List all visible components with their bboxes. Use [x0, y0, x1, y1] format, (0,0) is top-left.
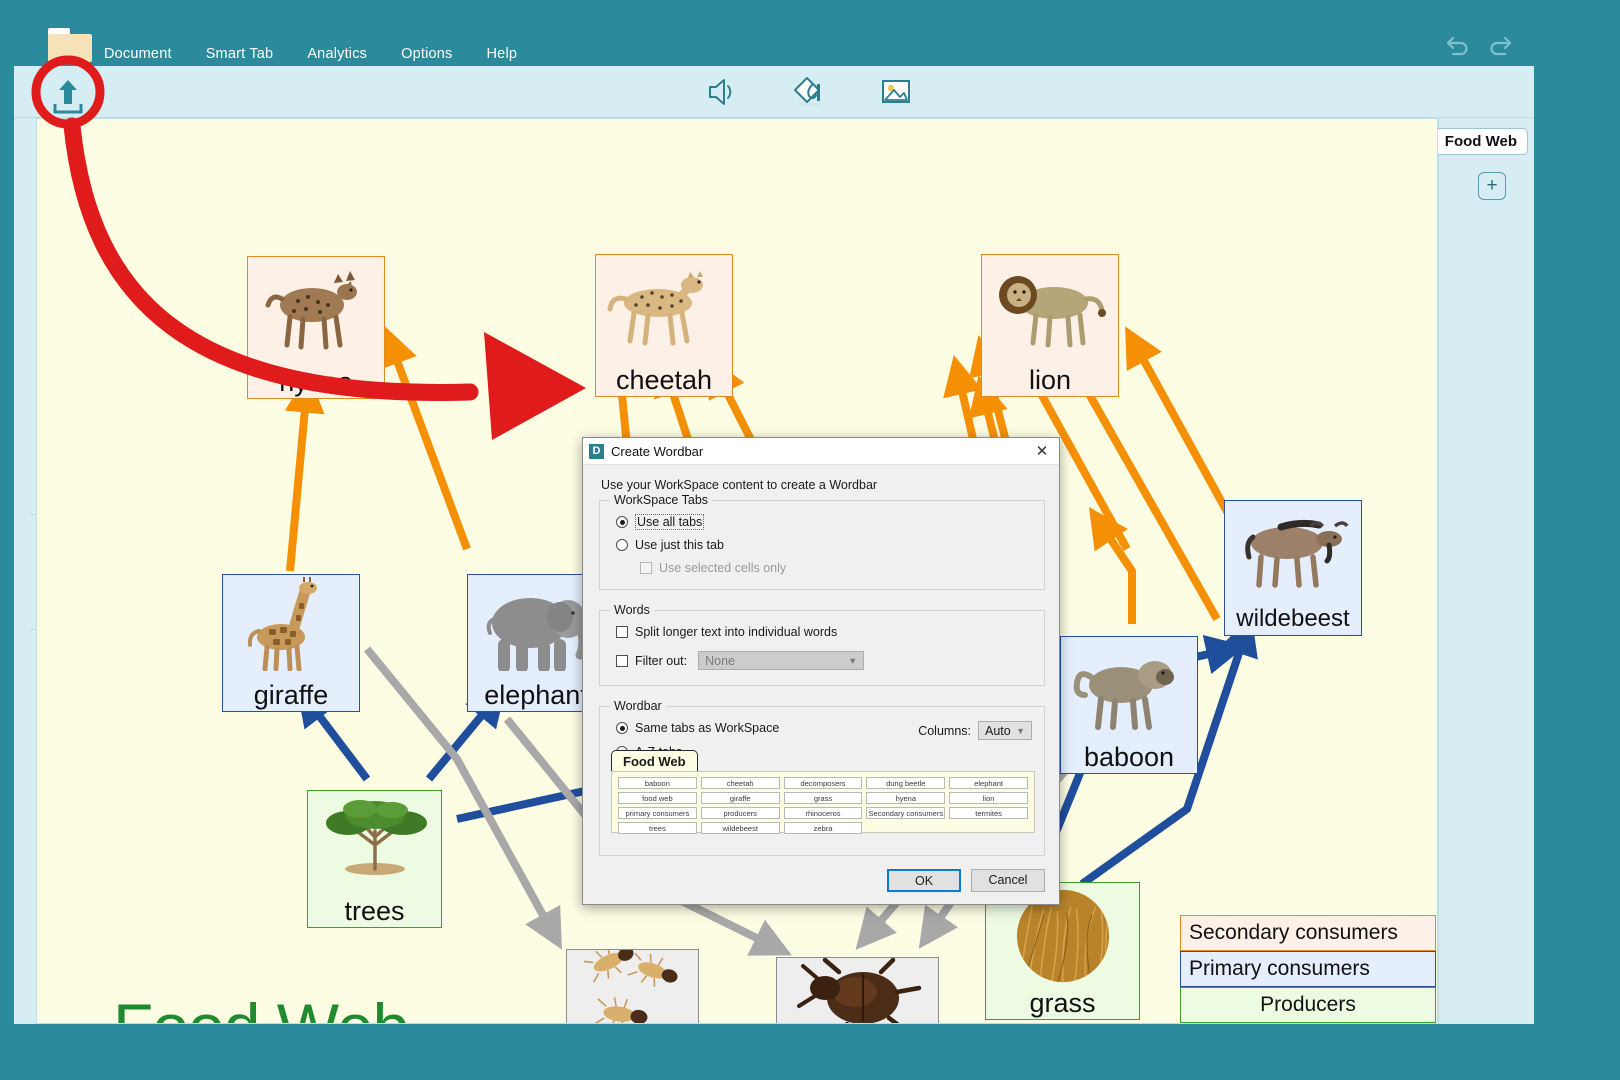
wordbar-cell[interactable]: giraffe: [701, 792, 780, 804]
app-badge-icon: D: [589, 444, 604, 459]
node-label: trees: [344, 897, 404, 927]
wordbar-cell[interactable]: food web: [618, 792, 697, 804]
wordbar-cell[interactable]: rhinoceros: [784, 807, 863, 819]
canvas-title: Food Web: [113, 989, 408, 1024]
wordbar-word-grid: babooncheetahdecomposersdung beetleeleph…: [612, 772, 1034, 839]
filter-out-label: Filter out:: [635, 654, 687, 668]
redo-icon[interactable]: [1486, 32, 1514, 58]
node-hyena[interactable]: hyena: [247, 256, 385, 399]
menu-item-document[interactable]: Document: [104, 46, 172, 62]
baboon-image: [1061, 637, 1197, 743]
termites-image: [567, 950, 698, 1024]
preview-tab-food-web[interactable]: Food Web: [611, 750, 698, 773]
node-trees[interactable]: trees: [307, 790, 442, 928]
workspace-canvas[interactable]: hyena cheetah lion giraffe elephant: [36, 118, 1438, 1024]
wordbar-cell[interactable]: dung beetle: [866, 777, 945, 789]
node-wildebeest[interactable]: wildebeest: [1224, 500, 1362, 636]
undo-icon[interactable]: [1444, 32, 1472, 58]
menu-bar: Document Smart Tab Analytics Options Hel…: [104, 46, 517, 62]
group-workspace-tabs: WorkSpace Tabs Use all tabs Use just thi…: [599, 500, 1045, 590]
node-giraffe[interactable]: giraffe: [222, 574, 360, 712]
group-caption: WorkSpace Tabs: [610, 493, 712, 507]
wordbar-cell[interactable]: trees: [618, 822, 697, 834]
legend-secondary-consumers[interactable]: Secondary consumers: [1180, 915, 1436, 951]
wordbar-cell[interactable]: hyena: [866, 792, 945, 804]
node-lion[interactable]: lion: [981, 254, 1119, 397]
columns-label: Columns:: [918, 724, 971, 738]
wordbar-cell[interactable]: grass: [784, 792, 863, 804]
checkbox-icon: [640, 562, 652, 574]
node-dung-beetle[interactable]: dung beetle: [776, 957, 939, 1024]
group-caption: Words: [610, 603, 654, 617]
group-caption: Wordbar: [610, 699, 666, 713]
wordbar-cell[interactable]: cheetah: [701, 777, 780, 789]
wordbar-cell[interactable]: baboon: [618, 777, 697, 789]
chevron-down-icon: ▼: [1016, 726, 1025, 736]
node-cheetah[interactable]: cheetah: [595, 254, 733, 397]
node-label: lion: [1029, 366, 1071, 396]
columns-dropdown[interactable]: Auto ▼: [978, 721, 1032, 740]
wildebeest-image: [1225, 501, 1361, 635]
checkbox-label: Use selected cells only: [659, 561, 786, 575]
undo-redo-group: [1444, 32, 1514, 58]
filter-out-value: None: [705, 654, 848, 668]
radio-label: Use just this tab: [635, 538, 724, 552]
wordbar-cell[interactable]: decomposers: [784, 777, 863, 789]
application-window: Food Web +: [14, 66, 1534, 1024]
node-termites[interactable]: termites: [566, 949, 699, 1024]
node-label: cheetah: [616, 366, 712, 396]
add-tab-button[interactable]: +: [1478, 172, 1506, 200]
checkbox-label: Split longer text into individual words: [635, 625, 837, 639]
wordbar-cell[interactable]: wildebeest: [701, 822, 780, 834]
wordbar-cell[interactable]: zebra: [784, 822, 863, 834]
checkbox-split-longer-text[interactable]: Split longer text into individual words: [616, 625, 837, 639]
checkbox-icon: [616, 626, 628, 638]
cheetah-image: [596, 255, 732, 366]
radio-use-just-this-tab[interactable]: Use just this tab: [616, 538, 724, 552]
radio-same-tabs-as-workspace[interactable]: Same tabs as WorkSpace: [616, 721, 779, 735]
chevron-down-icon: ▼: [848, 656, 857, 666]
wordbar-cell[interactable]: producers: [701, 807, 780, 819]
menu-item-analytics[interactable]: Analytics: [307, 46, 367, 62]
create-wordbar-dialog[interactable]: D Create Wordbar ✕ Use your WorkSpace co…: [582, 437, 1060, 905]
wordbar-cell[interactable]: Secondary consumers: [866, 807, 945, 819]
checkbox-icon[interactable]: [616, 655, 628, 667]
radio-label: Same tabs as WorkSpace: [635, 721, 779, 735]
tree-image: [308, 791, 441, 897]
hyena-image: [248, 257, 384, 368]
canvas-toolbar: [14, 66, 1534, 118]
dialog-intro: Use your WorkSpace content to create a W…: [601, 478, 877, 492]
columns-setting[interactable]: Columns: Auto ▼: [918, 721, 1032, 740]
cancel-button[interactable]: Cancel: [971, 869, 1045, 892]
dialog-buttons: OK Cancel: [887, 869, 1045, 892]
radio-label: Use all tabs: [635, 514, 704, 530]
giraffe-image: [223, 575, 359, 681]
title-bar: Document Smart Tab Analytics Options Hel…: [0, 0, 1620, 68]
wordbar-cell[interactable]: termites: [949, 807, 1028, 819]
lion-image: [982, 255, 1118, 366]
close-icon[interactable]: ✕: [1031, 442, 1053, 460]
wordbar-cell[interactable]: elephant: [949, 777, 1028, 789]
menu-item-smart-tab[interactable]: Smart Tab: [206, 46, 274, 62]
legend-producers[interactable]: Producers: [1180, 987, 1436, 1023]
folder-icon[interactable]: [48, 28, 92, 62]
pen-icon[interactable]: [788, 74, 828, 110]
legend-decomposers[interactable]: Decomposers: [1180, 1023, 1436, 1024]
legend-primary-consumers[interactable]: Primary consumers: [1180, 951, 1436, 987]
columns-value: Auto: [985, 724, 1016, 738]
menu-item-options[interactable]: Options: [401, 46, 452, 62]
wordbar-cell[interactable]: lion: [949, 792, 1028, 804]
checkbox-use-selected-cells[interactable]: Use selected cells only: [640, 561, 786, 575]
node-label: baboon: [1084, 743, 1174, 773]
image-icon[interactable]: [876, 74, 916, 110]
node-label: grass: [1029, 989, 1095, 1019]
filter-out-row[interactable]: Filter out: None ▼: [616, 651, 864, 670]
dialog-title: Create Wordbar: [611, 444, 703, 459]
node-baboon[interactable]: baboon: [1060, 636, 1198, 774]
dialog-title-bar: D Create Wordbar ✕: [583, 438, 1059, 465]
beetle-image: [777, 958, 938, 1024]
wordbar-cell[interactable]: primary consumers: [618, 807, 697, 819]
speaker-icon[interactable]: [700, 74, 740, 110]
node-label: giraffe: [254, 681, 329, 711]
wordbar-preview-pane[interactable]: babooncheetahdecomposersdung beetleeleph…: [611, 771, 1035, 833]
tab-rail: Food Web +: [1438, 118, 1534, 1024]
workspace-tab-food-web[interactable]: Food Web: [1434, 128, 1528, 155]
menu-item-help[interactable]: Help: [487, 46, 518, 62]
radio-icon: [616, 539, 628, 551]
group-words: Words Split longer text into individual …: [599, 610, 1045, 686]
ok-button[interactable]: OK: [887, 869, 961, 892]
legend: Secondary consumers Primary consumers Pr…: [1180, 915, 1436, 1024]
radio-icon: [616, 516, 628, 528]
node-label: hyena: [279, 368, 353, 398]
radio-icon: [616, 722, 628, 734]
filter-out-dropdown[interactable]: None ▼: [698, 651, 864, 670]
radio-use-all-tabs[interactable]: Use all tabs: [616, 514, 704, 530]
node-label: elephant: [484, 681, 588, 711]
